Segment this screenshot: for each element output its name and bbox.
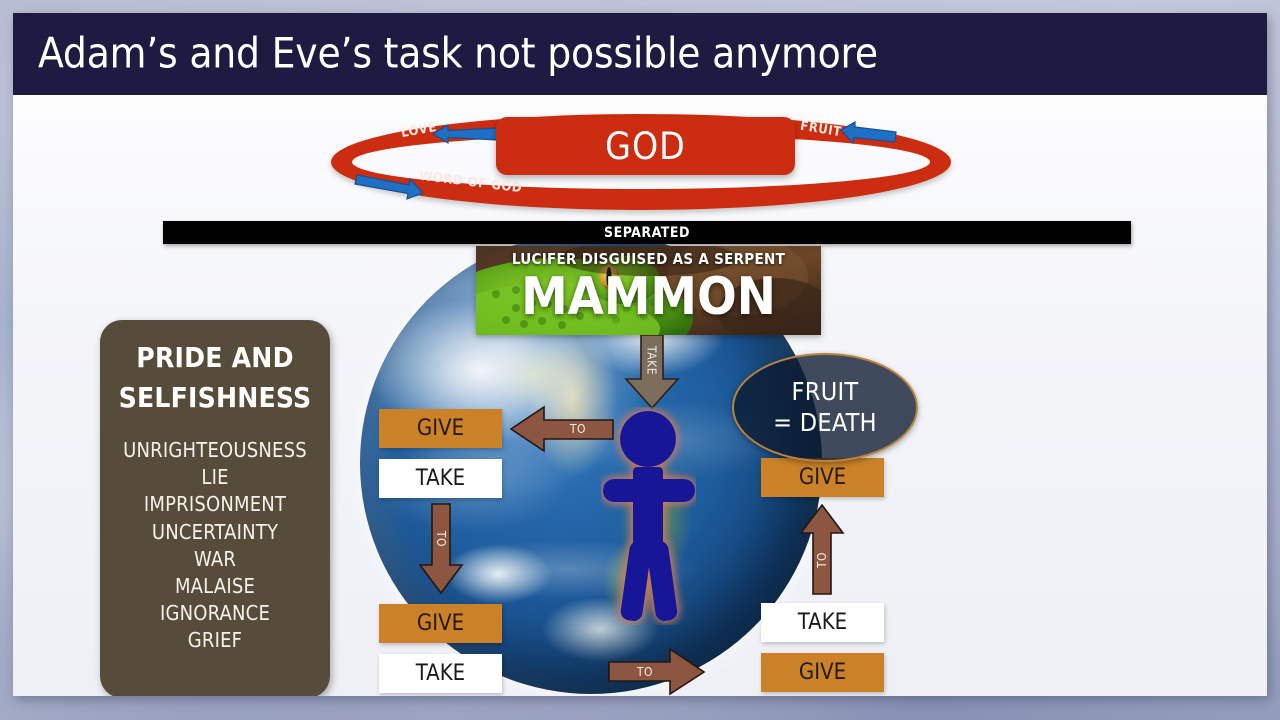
word-of-god-arrow-icon (351, 173, 425, 201)
fruit-death-text: FRUIT = DEATH (734, 355, 916, 460)
give-box-bottom-right: GIVE (761, 653, 884, 692)
mammon-title: MAMMON (476, 267, 821, 327)
pride-panel-title: PRIDE ANDSELFISHNESS (100, 338, 330, 418)
god-box: GOD (496, 117, 795, 175)
take-box-bottom-left: TAKE (379, 654, 502, 693)
list-item: UNRIGHTEOUSNESS (100, 437, 330, 464)
mammon-panel: LUCIFER DISGUISED AS A SERPENT MAMMON (476, 246, 821, 335)
separated-bar: SEPARATED (163, 221, 1131, 244)
to-right-arrow: TO (608, 647, 706, 696)
god-label: GOD (496, 117, 795, 175)
pride-panel-list: UNRIGHTEOUSNESS LIE IMPRISONMENT UNCERTA… (100, 437, 330, 655)
give-box-left: GIVE (379, 409, 502, 448)
love-arrow-icon (431, 121, 501, 147)
list-item: IGNORANCE (100, 600, 330, 627)
give-box-right: GIVE (761, 458, 884, 497)
list-item: UNCERTAINTY (100, 519, 330, 546)
take-down-arrow: TAKE (622, 335, 682, 410)
to-up-arrow: TO (799, 504, 845, 596)
list-item: IMPRISONMENT (100, 491, 330, 518)
mammon-subtitle: LUCIFER DISGUISED AS A SERPENT (476, 250, 821, 268)
fruit-death-line1: FRUIT (792, 377, 859, 408)
pride-and-selfishness-panel: PRIDE ANDSELFISHNESS UNRIGHTEOUSNESS LIE… (100, 320, 330, 696)
list-item: MALAISE (100, 573, 330, 600)
slide-content: GOD LOVE FRUIT WORD OF GOD SEPARATED (13, 95, 1267, 696)
fruit-death-line2: = DEATH (773, 408, 877, 439)
separated-label: SEPARATED (163, 221, 1131, 244)
take-box-bottom-right: TAKE (761, 603, 884, 642)
to-down-arrow: TO (418, 503, 464, 595)
slide-title-bar: Adam’s and Eve’s task not possible anymo… (13, 13, 1267, 95)
fruit-arrow-icon (839, 120, 899, 146)
give-box-bottom-left: GIVE (379, 604, 502, 643)
take-box-left: TAKE (379, 459, 502, 498)
to-left-arrow: TO (510, 405, 614, 453)
fruit-equals-death-ellipse: FRUIT = DEATH (732, 353, 918, 462)
page-title: Adam’s and Eve’s task not possible anymo… (38, 29, 878, 78)
list-item: LIE (100, 464, 330, 491)
human-figure-icon (601, 407, 696, 625)
slide: Adam’s and Eve’s task not possible anymo… (13, 13, 1267, 696)
list-item: GRIEF (100, 627, 330, 654)
list-item: WAR (100, 546, 330, 573)
